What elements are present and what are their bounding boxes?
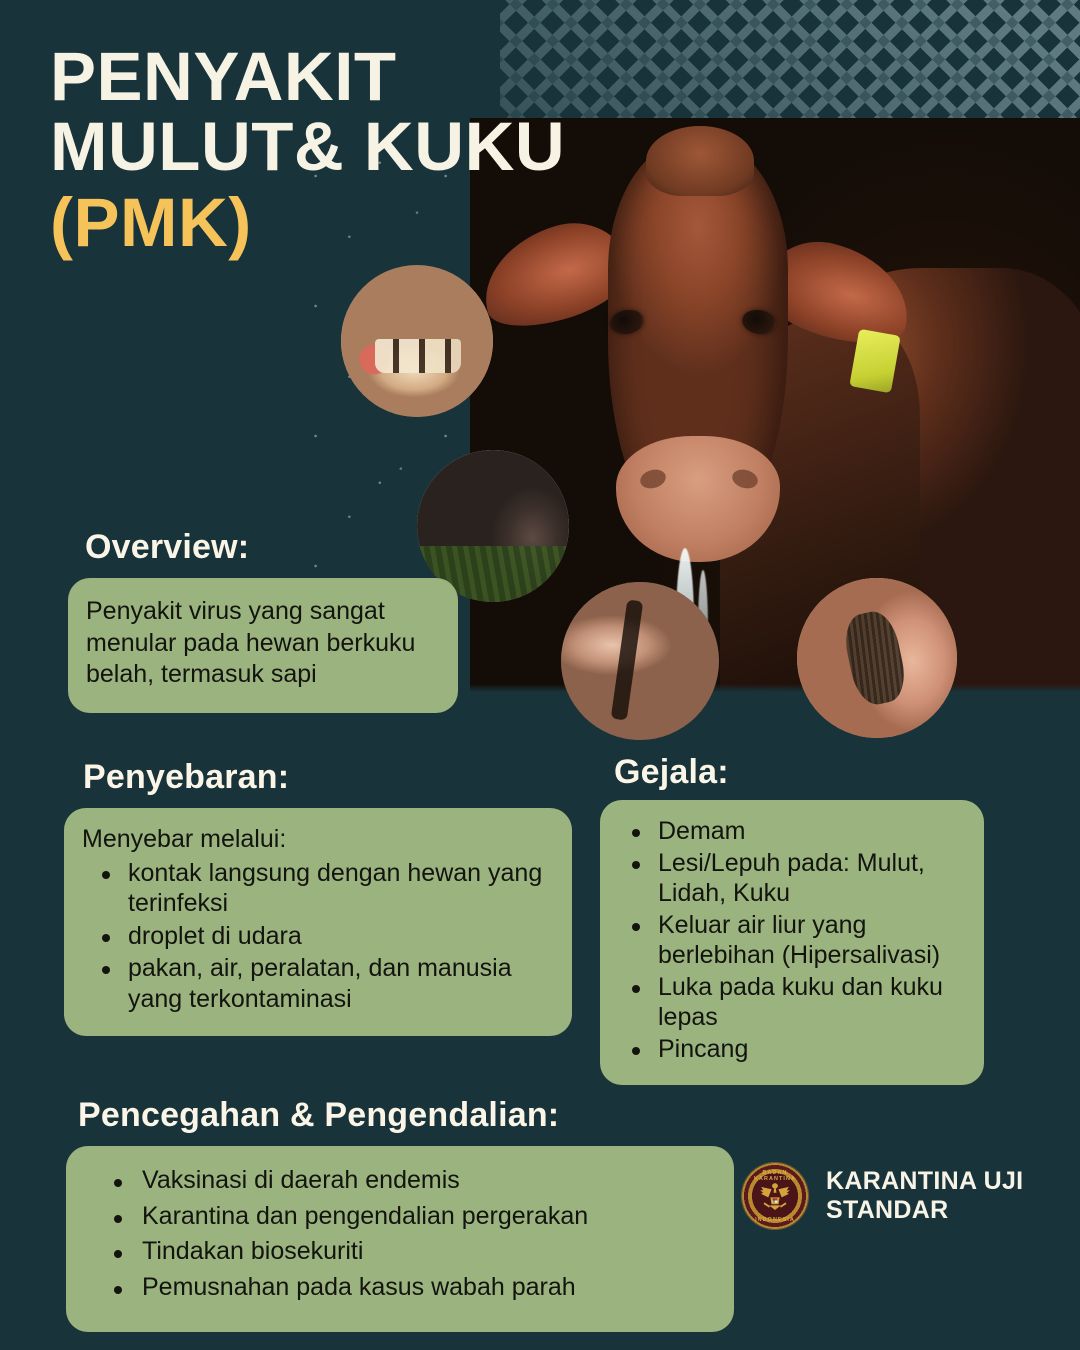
list-item: Demam (656, 816, 968, 847)
infographic-poster: PENYAKIT MULUT& KUKU (PMK) Overview: Pen… (0, 0, 1080, 1350)
list-item: kontak langsung dengan hewan yang terinf… (126, 858, 554, 919)
garuda-icon (758, 1180, 792, 1212)
inset-hoof-lesion-photo (561, 582, 719, 740)
overview-body-text: Penyakit virus yang sangat menular pada … (86, 596, 438, 691)
brand-name-line-2: STANDAR (826, 1196, 1023, 1225)
inset-mouth-teeth (375, 339, 461, 373)
symptoms-list: Demam Lesi/Lepuh pada: Mulut, Lidah, Kuk… (620, 816, 968, 1064)
card-penyebaran: Menyebar melalui: kontak langsung dengan… (64, 808, 572, 1036)
title-line-2: MULUT& KUKU (50, 114, 690, 180)
prevention-list: Vaksinasi di daerah endemis Karantina da… (84, 1164, 716, 1304)
badan-karantina-seal-icon: BADAN KARANTINA INDONESIA (742, 1163, 808, 1229)
spread-lead-text: Menyebar melalui: (82, 824, 554, 856)
list-item: Luka pada kuku dan kuku lepas (656, 972, 968, 1033)
section-heading-overview: Overview: (85, 528, 249, 567)
spread-list: kontak langsung dengan hewan yang terinf… (82, 858, 554, 1015)
section-heading-gejala: Gejala: (614, 753, 729, 792)
list-item: Lesi/Lepuh pada: Mulut, Lidah, Kuku (656, 848, 968, 909)
brand-name-line-1: KARANTINA UJI (826, 1167, 1023, 1196)
inset-detached-hoof-photo (797, 578, 957, 738)
list-item: pakan, air, peralatan, dan manusia yang … (126, 953, 554, 1014)
list-item: droplet di udara (126, 921, 554, 952)
inset-mouth-lesion-photo (341, 265, 493, 417)
page-title: PENYAKIT MULUT& KUKU (PMK) (50, 44, 690, 257)
title-line-3-abbreviation: (PMK) (50, 190, 690, 256)
card-pencegahan: Vaksinasi di daerah endemis Karantina da… (66, 1146, 734, 1332)
list-item: Pincang (656, 1034, 968, 1065)
list-item: Pemusnahan pada kasus wabah parah (140, 1271, 716, 1305)
seal-bottom-text: INDONESIA (742, 1217, 808, 1223)
list-item: Vaksinasi di daerah endemis (140, 1164, 716, 1198)
brand-lockup: BADAN KARANTINA INDONESIA (742, 1163, 1023, 1229)
list-item: Keluar air liur yang berlebihan (Hipersa… (656, 910, 968, 971)
section-heading-pencegahan: Pencegahan & Pengendalian: (78, 1096, 559, 1135)
card-overview: Penyakit virus yang sangat menular pada … (68, 578, 458, 713)
title-line-1: PENYAKIT (50, 44, 690, 110)
list-item: Karantina dan pengendalian pergerakan (140, 1200, 716, 1234)
list-item: Tindakan biosekuriti (140, 1235, 716, 1269)
section-heading-penyebaran: Penyebaran: (83, 758, 289, 797)
brand-name: KARANTINA UJI STANDAR (826, 1167, 1023, 1225)
card-gejala: Demam Lesi/Lepuh pada: Mulut, Lidah, Kuk… (600, 800, 984, 1085)
